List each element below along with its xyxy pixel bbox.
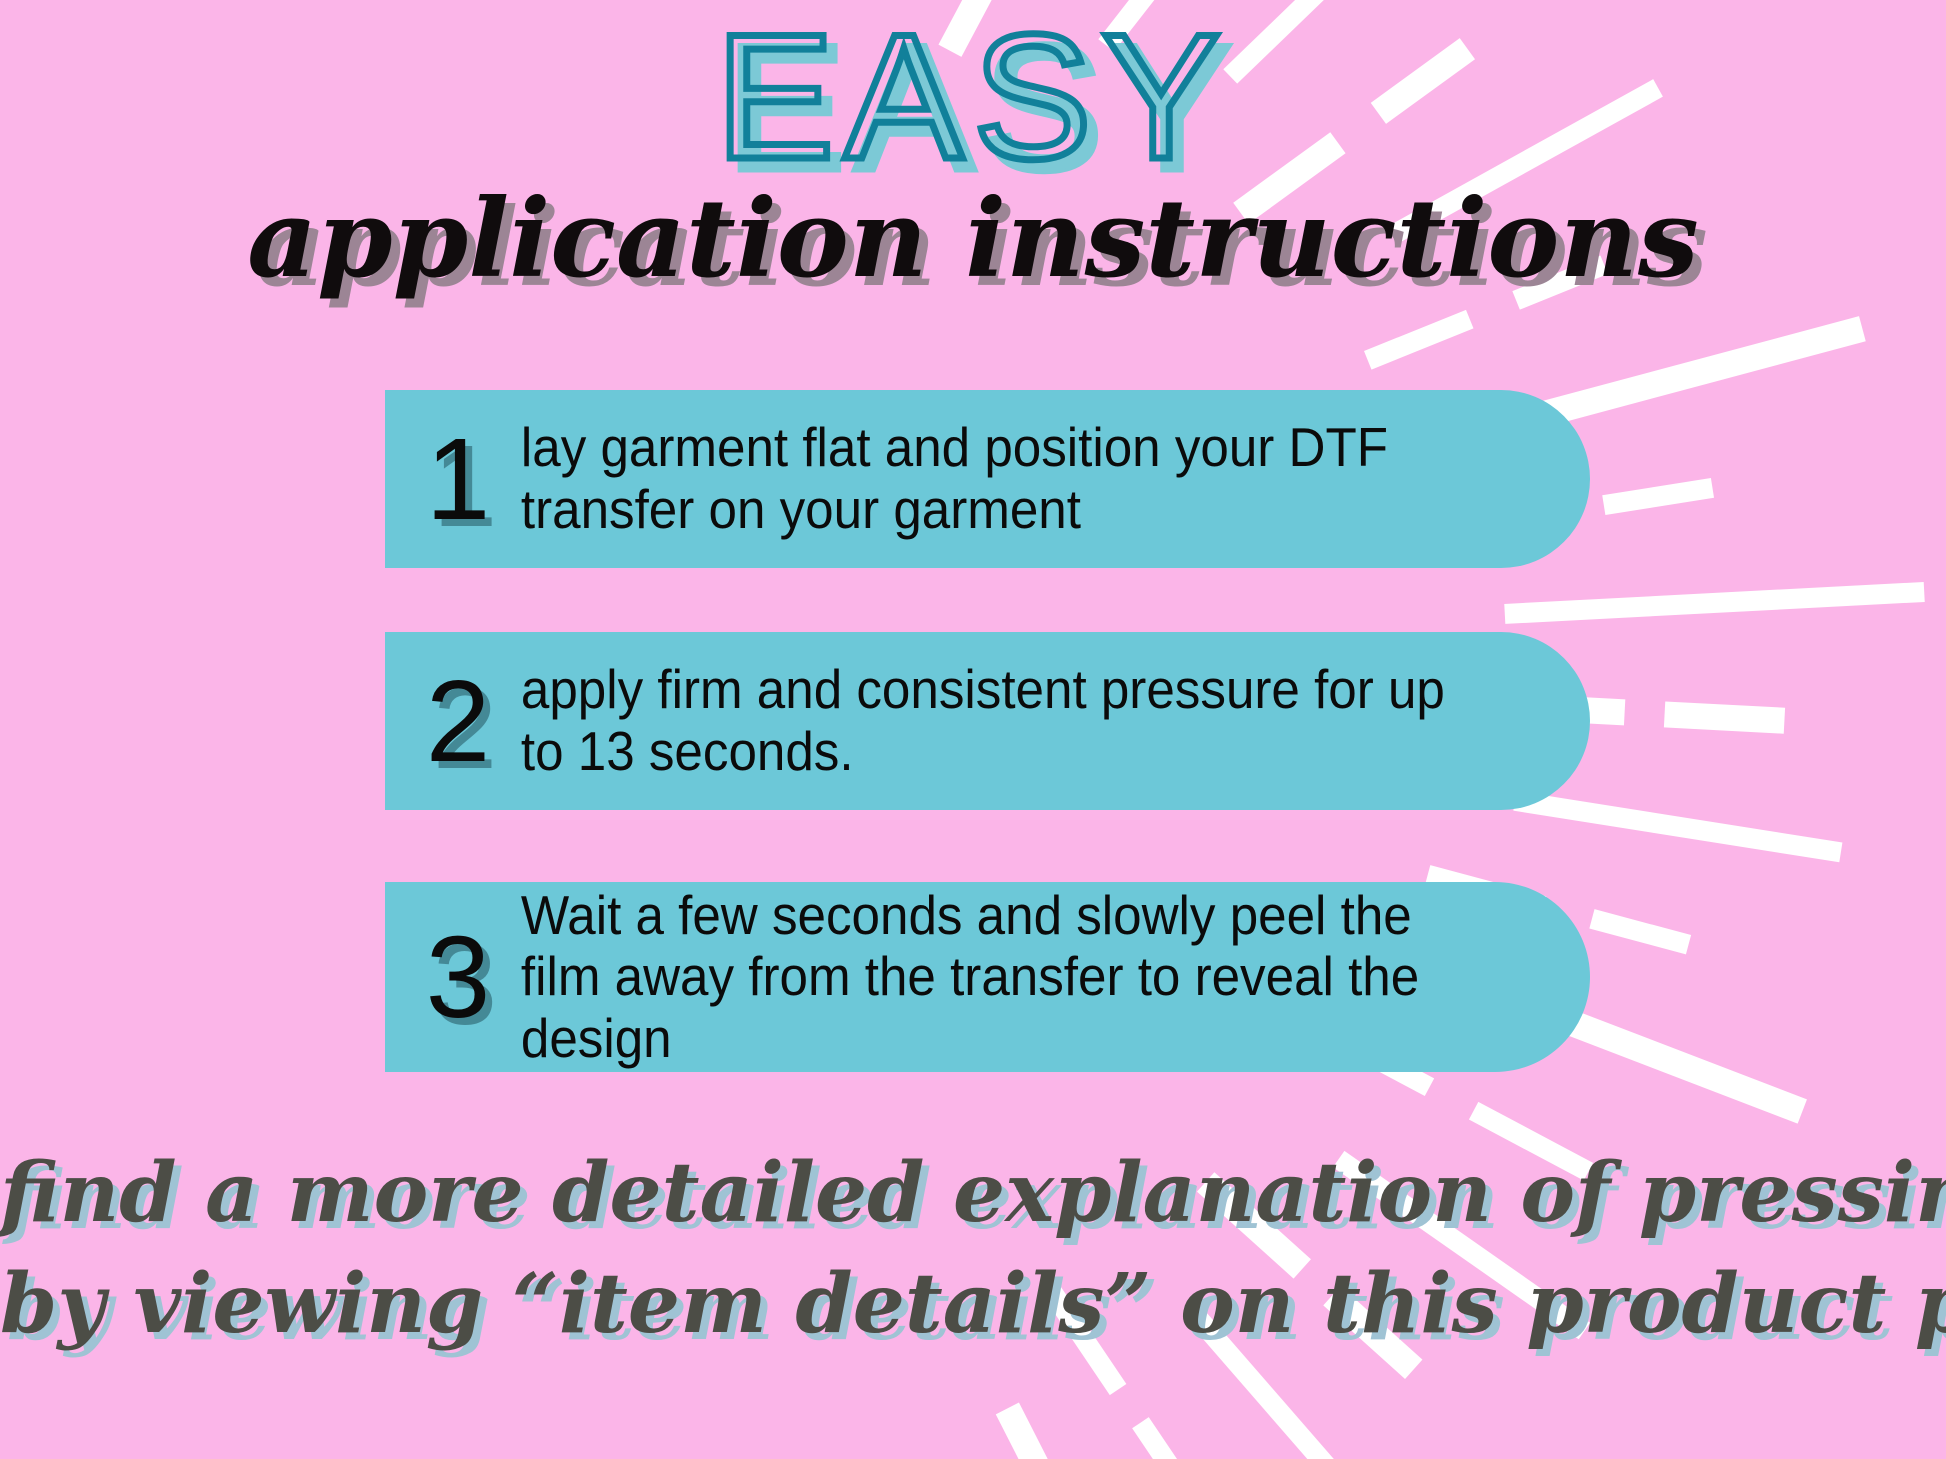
footnote-line-2: by viewing “item details” on this produc… [0,1249,1946,1360]
sunburst-ray [996,1403,1137,1459]
step-text-3: Wait a few seconds and slowly peel the f… [506,885,1514,1070]
sunburst-ray [1132,1417,1205,1459]
sunburst-ray [1504,582,1924,624]
sunburst-ray [1364,310,1473,370]
step-item-1: 1 lay garment flat and position your DTF… [385,390,1590,568]
step-number-1: 1 [410,421,506,537]
footnote: find a more detailed explanation of pres… [0,1138,1946,1359]
subtitle: application instructions [0,185,1946,293]
step-text-1: lay garment flat and position your DTF t… [506,417,1514,540]
footnote-line-1: find a more detailed explanation of pres… [0,1138,1946,1249]
step-text-2: apply firm and consistent pressure for u… [506,659,1514,782]
sunburst-ray [1589,909,1691,954]
sunburst-ray [1664,701,1785,733]
step-item-3: 3 Wait a few seconds and slowly peel the… [385,882,1590,1072]
sunburst-ray [1513,791,1842,862]
step-number-2: 2 [410,663,506,779]
step-item-2: 2 apply firm and consistent pressure for… [385,632,1590,810]
sunburst-ray [1602,478,1714,515]
step-number-3: 3 [410,919,506,1035]
application-instructions-poster: EASY EASY application instructions 1 lay… [0,0,1946,1459]
page-title: EASY [0,8,1946,186]
